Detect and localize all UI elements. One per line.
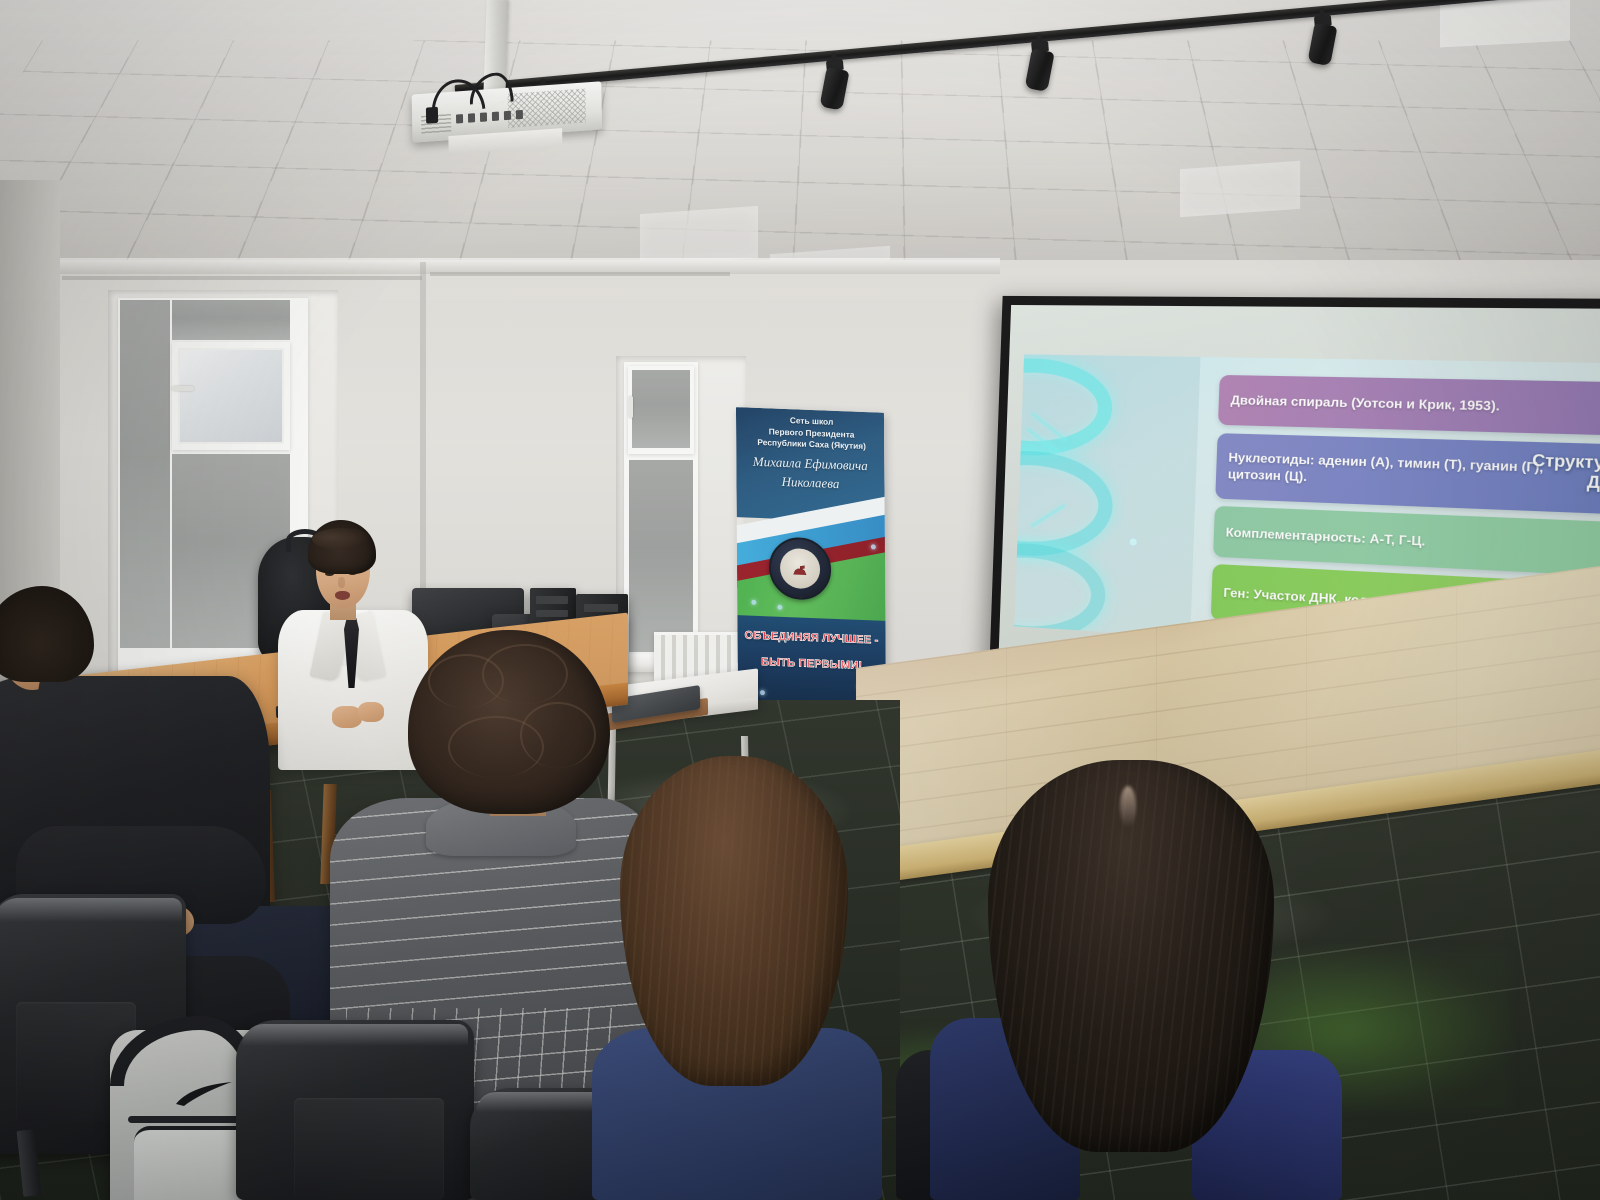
horse-rider-icon [791, 564, 811, 577]
banner-sparkle [751, 600, 756, 605]
slide-bar-3: Комплементарность: А-Т, Г-Ц. [1213, 506, 1600, 576]
audience-student-dark-hair [930, 760, 1330, 1200]
window-frame [624, 362, 698, 660]
window-vent-sash[interactable] [172, 342, 290, 450]
track-spotlight-icon [1314, 14, 1332, 26]
roller-blind[interactable] [632, 370, 690, 448]
presenter-hair [308, 520, 376, 574]
wall-seam [430, 272, 730, 276]
audience-student-brown-hair [592, 756, 882, 1200]
classroom-photograph: Сеть школ Первого Президента Республики … [0, 0, 1600, 1200]
chair-back[interactable] [236, 1020, 474, 1200]
window-glass [178, 348, 284, 444]
banner-sparkle [777, 605, 782, 610]
slide-title-line-2: ДНК [1511, 470, 1600, 494]
window-handle[interactable] [629, 396, 633, 418]
slide-title: Структура ДНК [1511, 451, 1600, 494]
banner-sparkle [871, 544, 876, 549]
banner-script-name: Михаила Ефимовича Николаева [740, 451, 880, 494]
banner-sparkle [760, 690, 765, 695]
track-spotlight-icon [1031, 40, 1049, 52]
ceiling-projector [412, 81, 603, 156]
banner-title: Сеть школ Первого Президента Республики … [742, 413, 881, 453]
roller-blind-top[interactable] [172, 300, 290, 340]
slide-bar-1: Двойная спираль (Уотсон и Крик, 1953). [1218, 374, 1600, 435]
roller-blind[interactable] [629, 460, 693, 652]
nike-swoosh-icon [174, 1082, 234, 1108]
window-handle[interactable] [172, 386, 194, 391]
dna-double-helix-icon [1014, 355, 1200, 638]
wall-seam [62, 276, 422, 280]
student-hair-curly [408, 630, 610, 814]
student-hair [0, 586, 94, 682]
student-hair-long-brown [620, 756, 848, 1086]
window-vent-sash[interactable] [628, 366, 694, 454]
track-spotlight-icon [826, 59, 844, 71]
hair-parting [1120, 786, 1136, 828]
projector-connector [426, 107, 438, 124]
